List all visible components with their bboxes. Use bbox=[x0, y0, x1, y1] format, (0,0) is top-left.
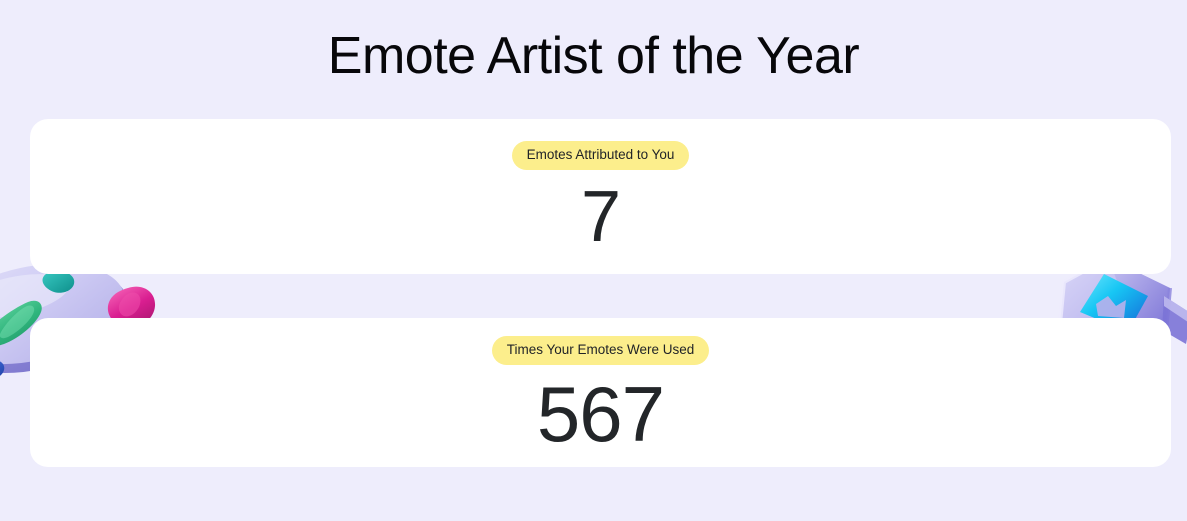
card-content: Emotes Attributed to You 7 bbox=[30, 119, 1171, 274]
card-content: Times Your Emotes Were Used 567 bbox=[30, 318, 1171, 467]
stat-card-emotes-attributed: Emotes Attributed to You 7 bbox=[30, 119, 1171, 274]
stat-badge-times-used: Times Your Emotes Were Used bbox=[492, 336, 710, 365]
stat-value-times-used: 567 bbox=[537, 375, 664, 453]
emote-artist-summary-page: Emote Artist of the Year bbox=[0, 0, 1187, 521]
stat-value-emotes-attributed: 7 bbox=[581, 181, 620, 253]
page-title: Emote Artist of the Year bbox=[0, 24, 1187, 88]
stat-card-times-used: Times Your Emotes Were Used 567 bbox=[30, 318, 1171, 467]
stat-badge-emotes-attributed: Emotes Attributed to You bbox=[512, 141, 690, 170]
